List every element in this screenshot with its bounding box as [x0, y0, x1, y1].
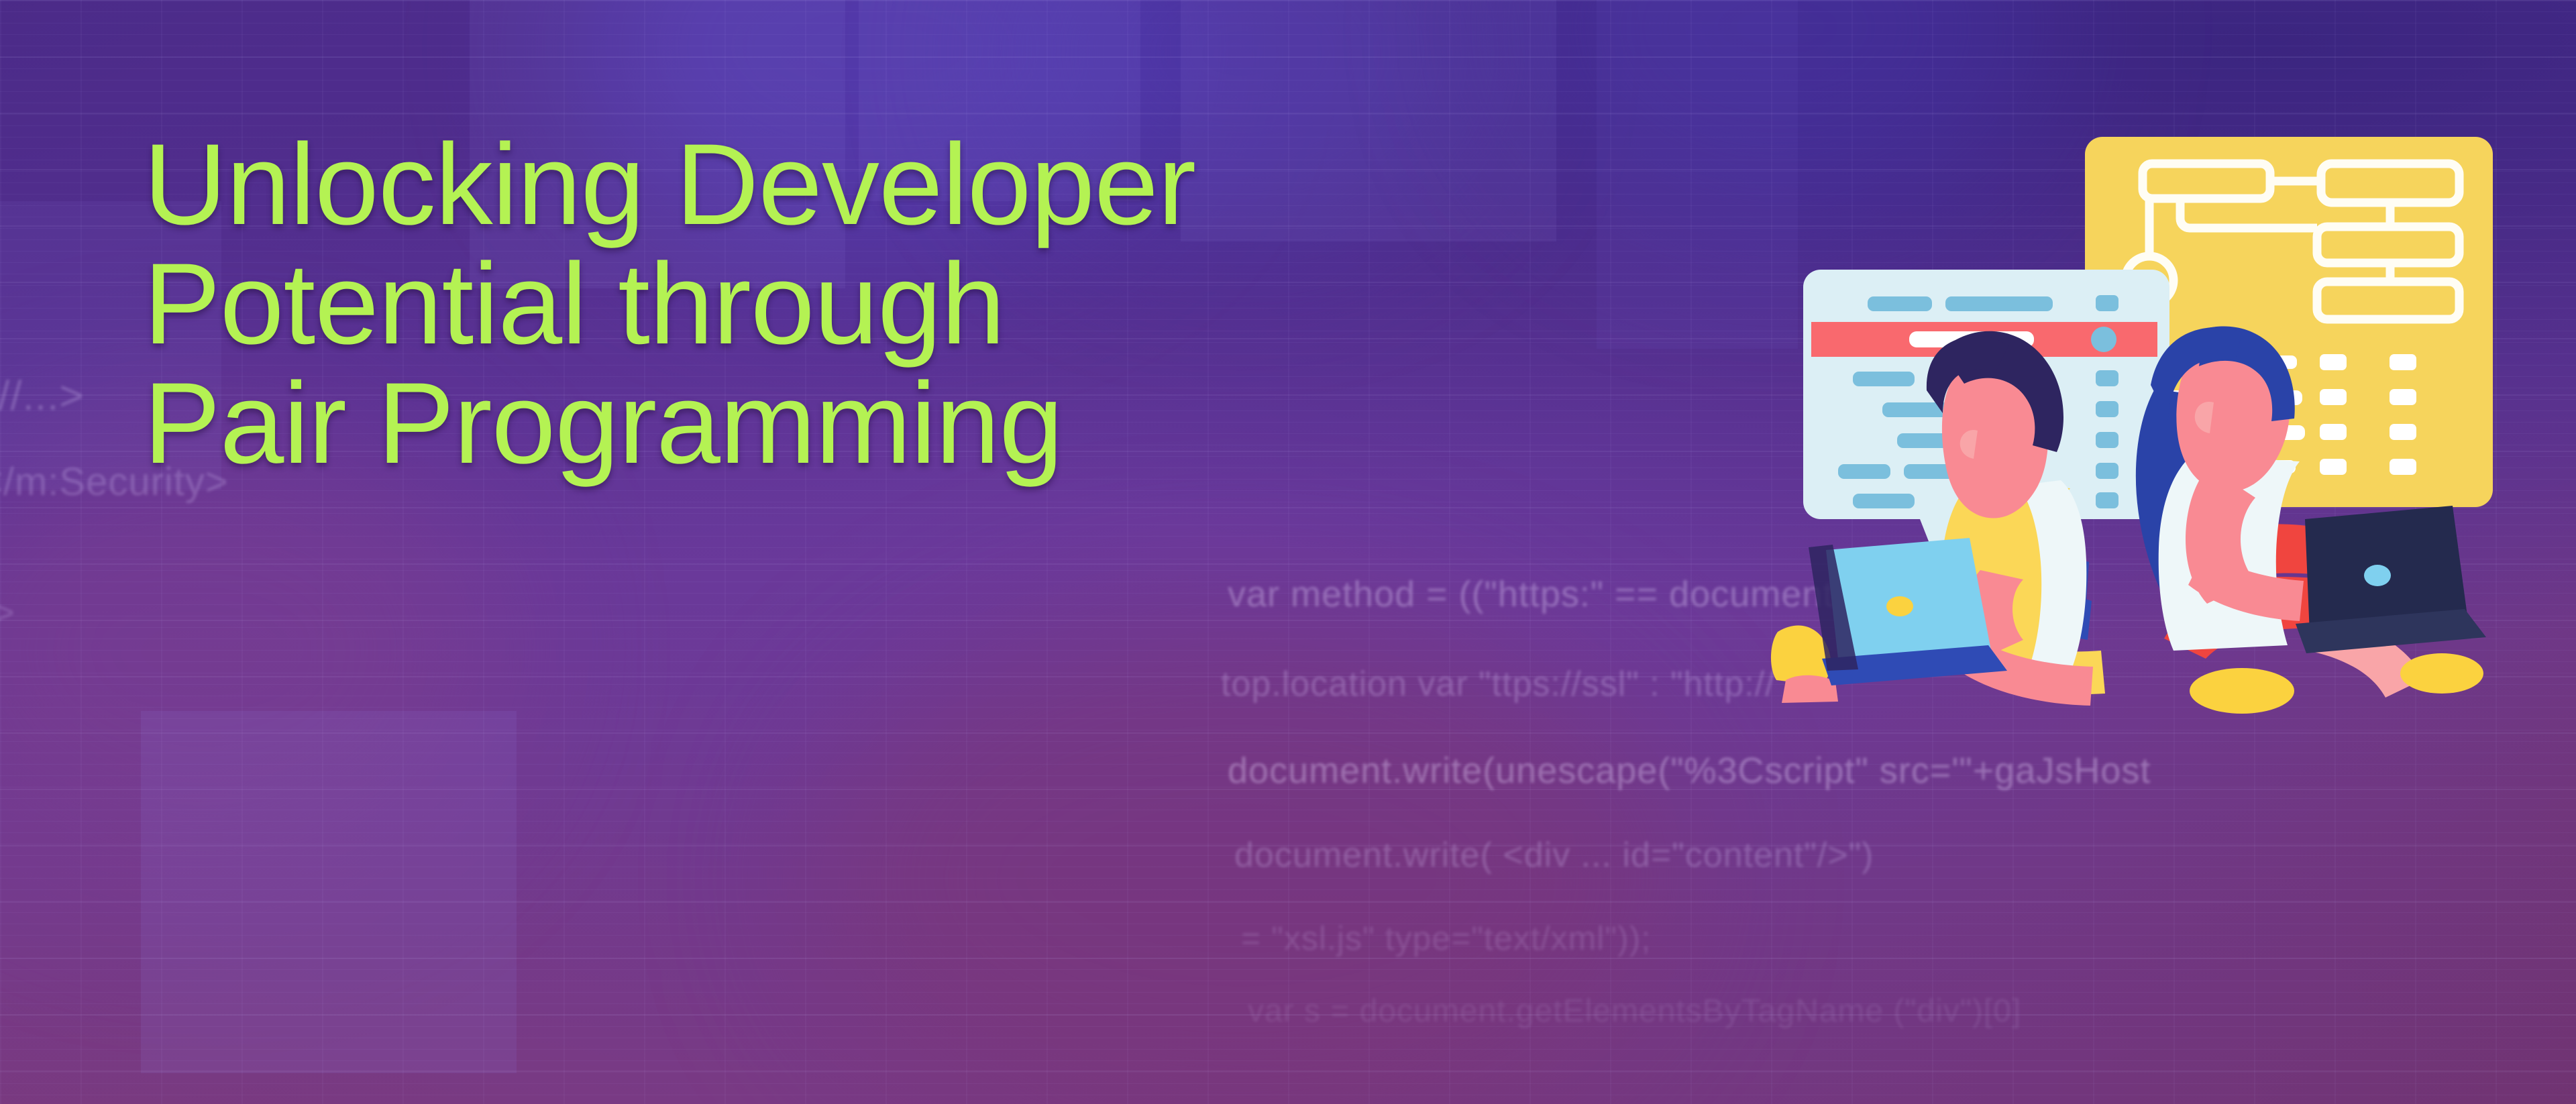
article-hero-banner: <//...> </m:Security> --> var method = (…	[0, 0, 2576, 1104]
page-title: Unlocking Developer Potential through Pa…	[144, 125, 1195, 483]
headline-line-1: Unlocking Developer	[144, 125, 1195, 244]
laptop-dark	[2296, 506, 2486, 653]
headline-line-2: Potential through	[144, 244, 1195, 364]
headline-line-3: Pair Programming	[144, 364, 1195, 483]
pair-programming-illustration	[1744, 87, 2576, 771]
